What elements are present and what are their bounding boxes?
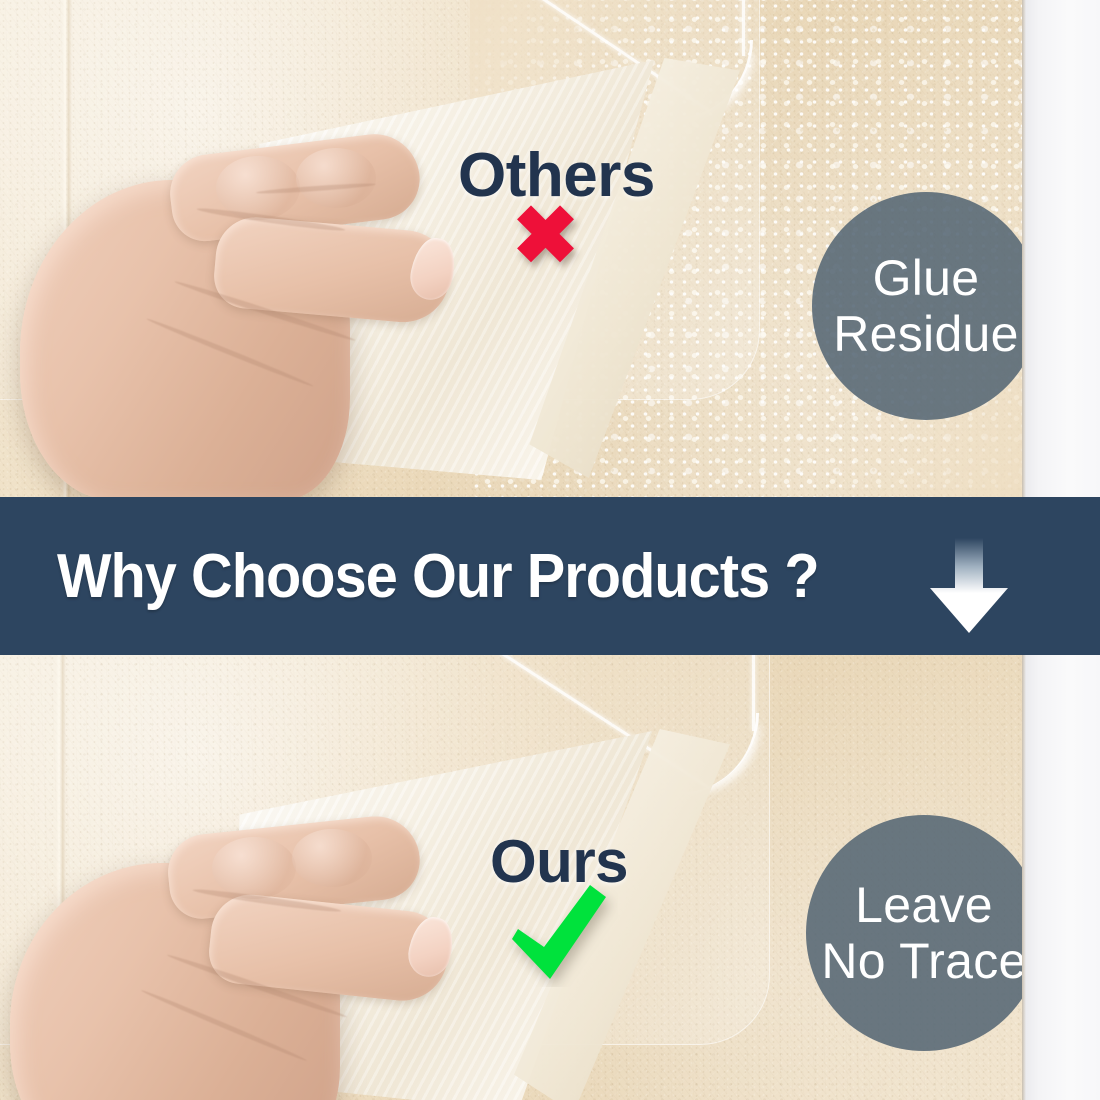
check-mark-icon [498, 877, 618, 987]
badge-leave-no-trace-line2: No Trace [821, 933, 1026, 989]
badge-leave-no-trace: LeaveNo Trace [806, 815, 1042, 1051]
down-arrow-icon [926, 538, 1012, 634]
photo-edge-strip-bottom [1022, 655, 1100, 1100]
badge-leave-no-trace-line1: Leave [855, 877, 993, 933]
panel-others: Others ✖ GlueResidue [0, 0, 1100, 500]
knuckle-bottom-2 [292, 829, 372, 887]
hand-bottom [10, 805, 450, 1100]
panel-ours: Ours LeaveNo Trace [0, 655, 1100, 1100]
knuckle-bottom-1 [212, 837, 296, 899]
hand-top [20, 120, 450, 500]
badge-glue-residue: GlueResidue [812, 192, 1040, 420]
photo-edge-strip-top [1022, 0, 1100, 500]
knuckle-top-2 [296, 148, 376, 208]
badge-glue-residue-text: GlueResidue [833, 250, 1019, 362]
badge-glue-residue-line2: Residue [833, 306, 1019, 362]
cross-mark-icon: ✖ [512, 196, 579, 276]
badge-leave-no-trace-text: LeaveNo Trace [821, 877, 1026, 989]
infographic-canvas: Others ✖ GlueResidue Why Choose Our Prod… [0, 0, 1100, 1100]
banner-headline: Why Choose Our Products ? [57, 541, 819, 612]
badge-glue-residue-line1: Glue [873, 250, 980, 306]
